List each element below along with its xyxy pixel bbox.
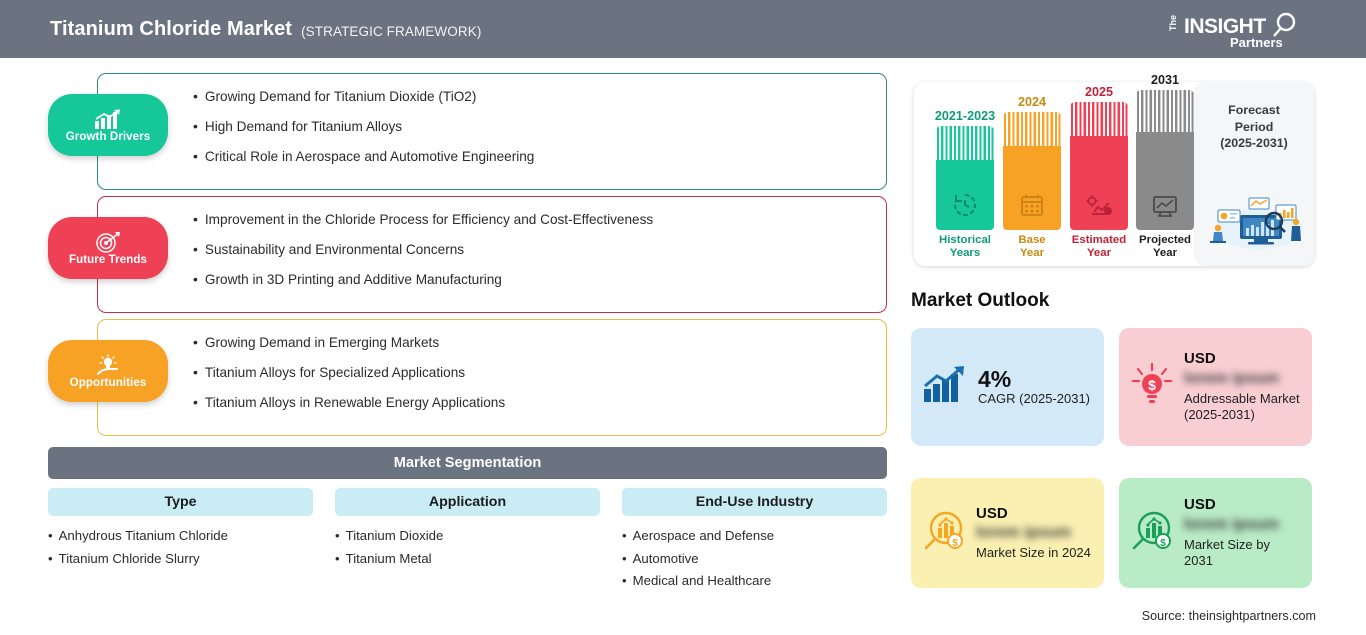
outlook-card-addressable-market: $ USD lorem ipsum Addressable Market (20… — [1119, 328, 1312, 446]
bullet-dot: • — [48, 551, 53, 566]
bar-shape — [936, 126, 994, 230]
bar-caption: Projected Year — [1139, 234, 1191, 260]
lightbulb-hand-icon — [93, 354, 123, 376]
segmentation-column-end-use-industry: End-Use Industry •Aerospace and Defense … — [622, 488, 887, 597]
bullet-dot: • — [193, 241, 198, 257]
segmentation-column-application: Application •Titanium Dioxide •Titanium … — [335, 488, 600, 574]
market-segmentation-title: Market Segmentation — [394, 455, 542, 471]
forecast-period-side: Forecast Period (2025-2031) — [1194, 82, 1314, 266]
bullet-item: •Growing Demand for Titanium Dioxide (Ti… — [193, 89, 886, 105]
magnifier-chart-icon: $ — [922, 509, 966, 558]
forecast-line-2: Period — [1235, 119, 1274, 136]
bar-chart-arrow-icon — [93, 108, 123, 130]
outlook-card-text: USD lorem ipsum Market Size by 2031 — [1184, 496, 1301, 570]
svg-text:$: $ — [1148, 377, 1156, 393]
list-item: •Automotive — [622, 552, 887, 567]
bullet-item: •Titanium Alloys for Specialized Applica… — [193, 365, 886, 381]
list-item-label: Automotive — [633, 551, 699, 566]
bullet-dot: • — [193, 334, 198, 350]
outlook-value: 4% — [978, 367, 1093, 391]
target-dart-icon — [94, 231, 122, 253]
bar-chart-arrow-icon — [922, 365, 968, 410]
bullet-text: Improvement in the Chloride Process for … — [205, 212, 653, 227]
list-item: •Titanium Chloride Slurry — [48, 552, 313, 567]
badge-label: Future Trends — [69, 254, 147, 266]
list-item-label: Titanium Metal — [346, 551, 432, 566]
list-item: •Anhydrous Titanium Chloride — [48, 529, 313, 544]
page-title-main: Titanium Chloride Market — [50, 18, 292, 40]
bullet-item: •Growth in 3D Printing and Additive Manu… — [193, 272, 886, 288]
opportunities-bullets: •Growing Demand in Emerging Markets •Tit… — [98, 320, 886, 411]
outlook-currency: USD — [976, 505, 1093, 522]
forecast-line-3: (2025-2031) — [1220, 135, 1288, 152]
forecast-period-card: 2021-2023 — [914, 82, 1314, 266]
source-attribution: Source: theinsightpartners.com — [1142, 609, 1316, 623]
bullet-dot: • — [622, 573, 627, 588]
bar-year-label: 2024 — [1018, 95, 1046, 109]
bullet-text: Sustainability and Environmental Concern… — [205, 242, 464, 257]
svg-text:$: $ — [1160, 538, 1166, 549]
svg-text:$: $ — [952, 538, 958, 549]
bullet-item: •Improvement in the Chloride Process for… — [193, 212, 886, 228]
bullet-item: •Sustainability and Environmental Concer… — [193, 242, 886, 258]
magnifier-chart-icon: $ — [1130, 509, 1174, 558]
bar-caption-line2: Year — [1072, 247, 1126, 260]
list-item-label: Anhydrous Titanium Chloride — [59, 528, 228, 543]
svg-text:Partners: Partners — [1230, 35, 1283, 50]
market-segmentation-header: Market Segmentation — [48, 447, 887, 479]
badge-label: Growth Drivers — [66, 131, 150, 143]
bullet-dot: • — [193, 118, 198, 134]
bar-shape — [1070, 102, 1128, 230]
future-trends-panel: •Improvement in the Chloride Process for… — [97, 196, 887, 313]
bar-stripes — [1003, 112, 1061, 146]
bar-caption-line1: Estimated — [1072, 234, 1126, 247]
opportunities-panel: •Growing Demand in Emerging Markets •Tit… — [97, 319, 887, 436]
bullet-dot: • — [622, 528, 627, 543]
bullet-dot: • — [193, 88, 198, 104]
list-item: •Titanium Dioxide — [335, 529, 600, 544]
lightbulb-dollar-icon: $ — [1130, 362, 1174, 413]
forecast-bar-estimated: 2025 — [1070, 102, 1128, 230]
bar-caption-line1: Base — [1018, 234, 1045, 247]
outlook-value-blurred: lorem ipsum — [976, 523, 1093, 543]
outlook-label: Addressable Market (2025-2031) — [1184, 391, 1301, 424]
bullet-dot: • — [335, 551, 340, 566]
bullet-text: Titanium Alloys in Renewable Energy Appl… — [205, 395, 505, 410]
bullet-dot: • — [193, 364, 198, 380]
bullet-text: Growing Demand for Titanium Dioxide (TiO… — [205, 89, 476, 104]
outlook-card-market-size-2031: $ USD lorem ipsum Market Size by 2031 — [1119, 478, 1312, 588]
bar-year-label: 2031 — [1151, 73, 1179, 87]
bullet-text: Growing Demand in Emerging Markets — [205, 335, 439, 350]
insight-partners-logo: The INSIGHT Partners — [1168, 9, 1308, 51]
bullet-dot: • — [622, 551, 627, 566]
calendar-icon — [1019, 192, 1045, 223]
badge-opportunities[interactable]: Opportunities — [48, 340, 168, 402]
outlook-currency: USD — [1184, 496, 1301, 513]
bullet-text: High Demand for Titanium Alloys — [205, 119, 402, 134]
bullet-item: •Titanium Alloys in Renewable Energy App… — [193, 395, 886, 411]
bar-caption-line2: Year — [1018, 247, 1045, 260]
future-trends-bullets: •Improvement in the Chloride Process for… — [98, 197, 886, 288]
list-item: •Aerospace and Defense — [622, 529, 887, 544]
logo-svg: The INSIGHT Partners — [1168, 9, 1308, 51]
bar-caption-line1: Historical — [939, 234, 991, 247]
segmentation-column-type: Type •Anhydrous Titanium Chloride •Titan… — [48, 488, 313, 574]
bullet-text: Growth in 3D Printing and Additive Manuf… — [205, 272, 502, 287]
outlook-label: CAGR (2025-2031) — [978, 391, 1093, 408]
badge-label: Opportunities — [70, 377, 147, 389]
bar-shape — [1003, 112, 1061, 230]
bullet-dot: • — [193, 394, 198, 410]
bar-shape — [1136, 90, 1194, 230]
data-analytics-illustration — [1204, 189, 1308, 256]
forecast-line-1: Forecast — [1228, 102, 1280, 119]
bar-stripes — [1070, 102, 1128, 136]
bullet-text: Titanium Alloys for Specialized Applicat… — [205, 365, 465, 380]
bullet-text: Critical Role in Aerospace and Automotiv… — [205, 149, 534, 164]
bar-caption: Estimated Year — [1072, 234, 1126, 260]
list-item-label: Medical and Healthcare — [633, 573, 772, 588]
forecast-bars: 2021-2023 — [914, 82, 1194, 266]
segmentation-column-header: Application — [335, 488, 600, 516]
growth-drivers-bullets: •Growing Demand for Titanium Dioxide (Ti… — [98, 74, 886, 165]
bullet-dot: • — [48, 528, 53, 543]
forecast-bar-projected: 2031 — [1136, 90, 1194, 230]
forecast-bar-historical: 2021-2023 — [936, 126, 994, 230]
page-title: Titanium Chloride Market(STRATEGIC FRAME… — [50, 18, 481, 41]
outlook-card-market-size-2024: $ USD lorem ipsum Market Size in 2024 — [911, 478, 1104, 588]
list-item: •Medical and Healthcare — [622, 574, 887, 589]
bar-caption: Historical Years — [939, 234, 991, 260]
bullet-dot: • — [335, 528, 340, 543]
outlook-currency: USD — [1184, 350, 1301, 367]
forecast-bar-base: 2024 — [1003, 112, 1061, 230]
badge-future-trends[interactable]: Future Trends — [48, 217, 168, 279]
clock-history-icon — [952, 192, 978, 223]
bullet-item: •High Demand for Titanium Alloys — [193, 119, 886, 135]
segmentation-items: •Titanium Dioxide •Titanium Metal — [335, 529, 600, 566]
segmentation-items: •Anhydrous Titanium Chloride •Titanium C… — [48, 529, 313, 566]
bar-stripes — [1136, 90, 1194, 132]
badge-growth-drivers[interactable]: Growth Drivers — [48, 94, 168, 156]
growth-drivers-panel: •Growing Demand for Titanium Dioxide (Ti… — [97, 73, 887, 190]
bar-caption: Base Year — [1018, 234, 1045, 260]
bullet-item: •Growing Demand in Emerging Markets — [193, 335, 886, 351]
list-item: •Titanium Metal — [335, 552, 600, 567]
left-column: •Growing Demand for Titanium Dioxide (Ti… — [0, 58, 905, 635]
bar-stripes — [936, 126, 994, 160]
outlook-label: Market Size in 2024 — [976, 545, 1093, 562]
bullet-item: •Critical Role in Aerospace and Automoti… — [193, 149, 886, 165]
list-item-label: Titanium Chloride Slurry — [59, 551, 200, 566]
bullet-dot: • — [193, 148, 198, 164]
outlook-value-blurred: lorem ipsum — [1184, 369, 1301, 389]
bar-caption-line2: Years — [939, 247, 991, 260]
bullet-dot: • — [193, 271, 198, 287]
page-title-subtitle: (STRATEGIC FRAMEWORK) — [301, 24, 481, 39]
gear-chart-icon — [1085, 194, 1113, 223]
page-header: Titanium Chloride Market(STRATEGIC FRAME… — [0, 0, 1366, 58]
list-item-label: Titanium Dioxide — [346, 528, 444, 543]
list-item-label: Aerospace and Defense — [633, 528, 775, 543]
bullet-dot: • — [193, 211, 198, 227]
market-outlook-title: Market Outlook — [911, 290, 1049, 312]
outlook-value-blurred: lorem ipsum — [1184, 515, 1301, 535]
outlook-card-text: USD lorem ipsum Addressable Market (2025… — [1184, 350, 1301, 424]
infographic-page: Titanium Chloride Market(STRATEGIC FRAME… — [0, 0, 1366, 635]
bar-year-label: 2021-2023 — [935, 109, 995, 123]
outlook-card-cagr: 4% CAGR (2025-2031) — [911, 328, 1104, 446]
segmentation-column-header: Type — [48, 488, 313, 516]
segmentation-column-header: End-Use Industry — [622, 488, 887, 516]
outlook-label: Market Size by 2031 — [1184, 537, 1301, 570]
bar-caption-line2: Year — [1139, 247, 1191, 260]
segmentation-items: •Aerospace and Defense •Automotive •Medi… — [622, 529, 887, 589]
bar-year-label: 2025 — [1085, 85, 1113, 99]
outlook-card-text: USD lorem ipsum Market Size in 2024 — [976, 505, 1093, 562]
svg-text:The: The — [1168, 15, 1178, 31]
outlook-card-text: 4% CAGR (2025-2031) — [978, 367, 1093, 408]
monitor-chart-icon — [1152, 194, 1178, 223]
right-column: 2021-2023 — [905, 58, 1366, 635]
bar-caption-line1: Projected — [1139, 234, 1191, 247]
